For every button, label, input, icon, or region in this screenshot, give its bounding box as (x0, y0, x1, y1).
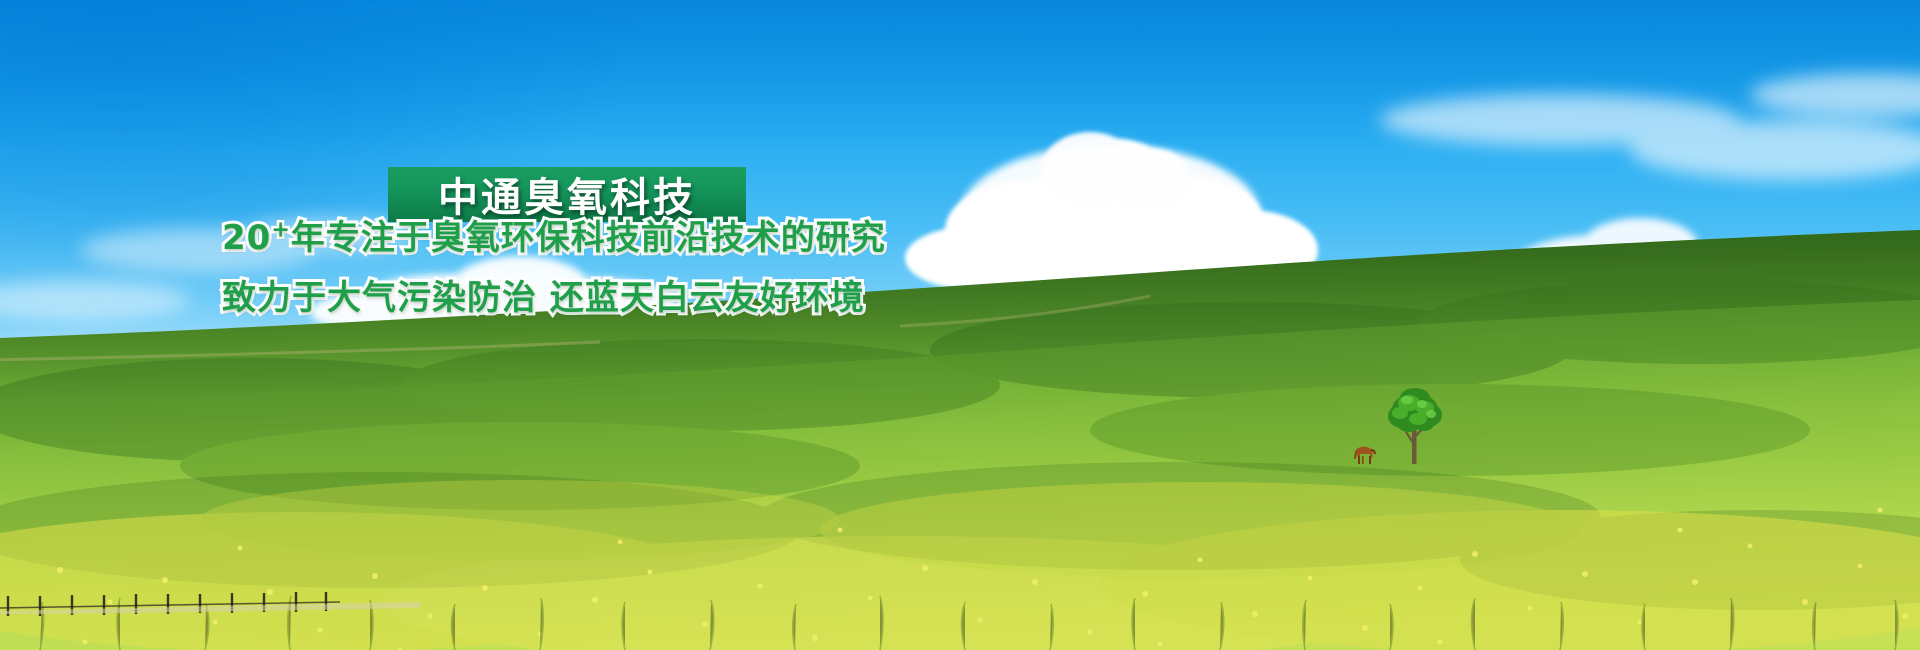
hero-banner: 中通臭氧科技 20+年专注于臭氧环保科技前沿技术的研究 致力于大气污染防治 还蓝… (0, 0, 1920, 650)
tagline-line-1-rest: 年专注于臭氧环保科技前沿技术的研究 (291, 218, 886, 258)
tagline-line-1: 20+年专注于臭氧环保科技前沿技术的研究 (222, 210, 886, 259)
tagline-plus-sup: + (271, 218, 290, 243)
grazing-horse-icon (1352, 443, 1378, 465)
lone-tree-icon (1382, 384, 1448, 464)
cloud-wisp-upper-right (1380, 73, 1920, 180)
tagline-years-number: 20 (222, 218, 271, 258)
tagline-line-2: 致力于大气污染防治 还蓝天白云友好环境 (222, 270, 865, 319)
dirt-path-icon (0, 600, 420, 614)
